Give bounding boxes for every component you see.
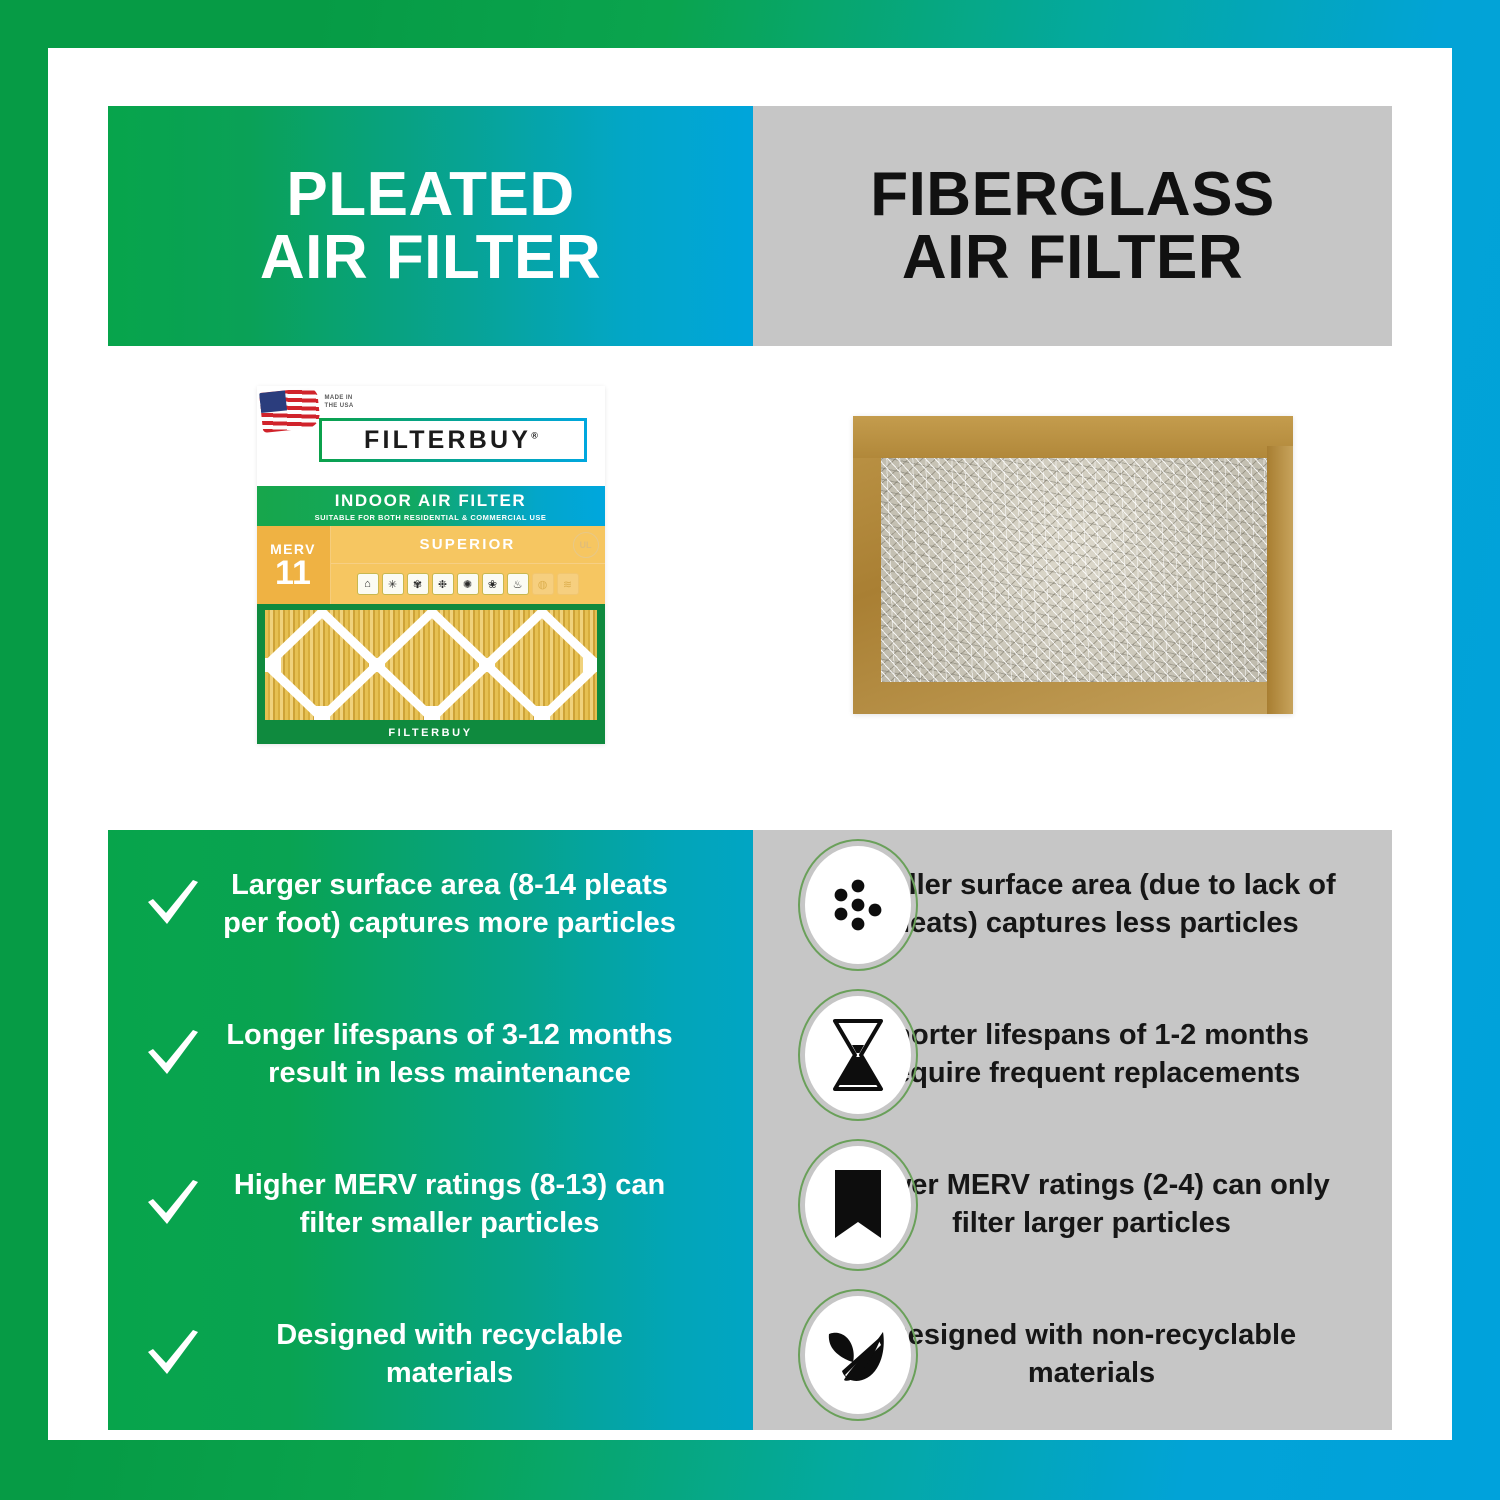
band-title: INDOOR AIR FILTER — [335, 491, 527, 511]
broom-dust-icon: ⌂ — [357, 573, 379, 595]
checkmark-icon — [136, 1028, 210, 1082]
fiberglass-drawback-text: Smaller surface area (due to lack of ple… — [821, 867, 1362, 942]
pleated-footer-brand: FILTERBUY — [257, 727, 605, 739]
pet-dander-paw-icon: ❀ — [482, 573, 504, 595]
band-subtitle: SUITABLE FOR BOTH RESIDENTIAL & COMMERCI… — [315, 513, 547, 522]
pleated-media-area: FILTERBUY — [257, 604, 605, 744]
header-pleated: PLEATED AIR FILTER — [108, 106, 753, 346]
table-row: Larger surface area (8-14 pleats per foo… — [108, 830, 753, 980]
pleated-benefit-text: Higher MERV ratings (8-13) can filter sm… — [210, 1167, 689, 1242]
smoke-icon: ♨ — [507, 573, 529, 595]
pleated-benefit-text: Larger surface area (8-14 pleats per foo… — [210, 867, 689, 942]
indoor-air-filter-band: INDOOR AIR FILTER SUITABLE FOR BOTH RESI… — [257, 486, 605, 526]
table-row: Smaller surface area (due to lack of ple… — [753, 830, 1392, 980]
table-row: Shorter lifespans of 1-2 months require … — [753, 980, 1392, 1130]
product-images-row: MADE IN THE USA FILTERBUY® INDOOR AIR FI… — [108, 348, 1392, 782]
bacteria-icon: ✺ — [457, 573, 479, 595]
pleated-filter-product: MADE IN THE USA FILTERBUY® INDOOR AIR FI… — [257, 386, 605, 744]
comparison-body: Larger surface area (8-14 pleats per foo… — [108, 830, 1392, 1430]
insect-icon: ✳ — [382, 573, 404, 595]
merv-value: 11 — [275, 557, 311, 589]
fiberglass-image-cell — [753, 348, 1392, 782]
fiberglass-mesh — [881, 458, 1267, 682]
fiberglass-rows: Smaller surface area (due to lack of ple… — [753, 830, 1392, 1430]
pleated-image-cell: MADE IN THE USA FILTERBUY® INDOOR AIR FI… — [108, 348, 753, 782]
mold-spores-icon: ❉ — [432, 573, 454, 595]
fiberglass-drawback-text: Designed with non-recyclable materials — [821, 1317, 1362, 1392]
filterbuy-logo-text: FILTERBUY® — [364, 426, 541, 455]
fiberglass-column: Smaller surface area (due to lack of ple… — [753, 830, 1392, 1430]
merv-section: MERV 11 SUPERIOR UL ⌂ ✳ ✾ ❉ ✺ — [257, 526, 605, 604]
fiberglass-frame-top — [853, 416, 1293, 458]
header-row: PLEATED AIR FILTER FIBERGLASS AIR FILTER — [108, 106, 1392, 346]
capsule-icon: ◍ — [532, 573, 554, 595]
fiberglass-drawback-text: Lower MERV ratings (2-4) can only filter… — [821, 1167, 1362, 1242]
merv-details: SUPERIOR UL ⌂ ✳ ✾ ❉ ✺ ❀ ♨ ◍ ≋ — [331, 526, 605, 604]
header-fiberglass-title: FIBERGLASS AIR FILTER — [870, 163, 1275, 289]
usa-flag-icon — [259, 387, 321, 433]
fiberglass-drawback-text: Shorter lifespans of 1-2 months require … — [821, 1017, 1362, 1092]
pollen-flower-icon: ✾ — [407, 573, 429, 595]
filterbuy-logo-box: FILTERBUY® — [319, 418, 587, 462]
pleated-benefit-text: Longer lifespans of 3-12 months result i… — [210, 1017, 689, 1092]
table-row: Higher MERV ratings (8-13) can filter sm… — [108, 1130, 753, 1280]
wire-lattice-icon — [265, 610, 597, 720]
checkmark-icon — [136, 878, 210, 932]
pleated-rows: Larger surface area (8-14 pleats per foo… — [108, 830, 753, 1430]
pleat-texture — [265, 610, 597, 720]
table-row: Designed with recyclable materials — [108, 1280, 753, 1430]
table-row: Lower MERV ratings (2-4) can only filter… — [753, 1130, 1392, 1280]
ul-certification-icon: UL — [573, 532, 599, 558]
header-fiberglass: FIBERGLASS AIR FILTER — [753, 106, 1392, 346]
fiberglass-filter-product — [853, 416, 1293, 714]
tier-row: SUPERIOR UL — [331, 526, 605, 564]
feature-icons-row: ⌂ ✳ ✾ ❉ ✺ ❀ ♨ ◍ ≋ — [331, 564, 605, 604]
infographic-card: PLEATED AIR FILTER FIBERGLASS AIR FILTER… — [48, 48, 1452, 1440]
tier-label: SUPERIOR — [420, 536, 516, 553]
pleated-label-top: MADE IN THE USA FILTERBUY® — [257, 386, 605, 486]
pleated-benefit-text: Designed with recyclable materials — [210, 1317, 689, 1392]
checkmark-icon — [136, 1328, 210, 1382]
fiber-icon: ≋ — [557, 573, 579, 595]
pleated-column: Larger surface area (8-14 pleats per foo… — [108, 830, 753, 1430]
table-row: Longer lifespans of 3-12 months result i… — [108, 980, 753, 1130]
merv-badge: MERV 11 — [257, 526, 331, 604]
fiberglass-frame-right — [1267, 446, 1293, 714]
header-pleated-title: PLEATED AIR FILTER — [260, 163, 601, 289]
table-row: Designed with non-recyclable materials — [753, 1280, 1392, 1430]
made-in-usa-text: MADE IN THE USA — [325, 395, 354, 410]
checkmark-icon — [136, 1178, 210, 1232]
